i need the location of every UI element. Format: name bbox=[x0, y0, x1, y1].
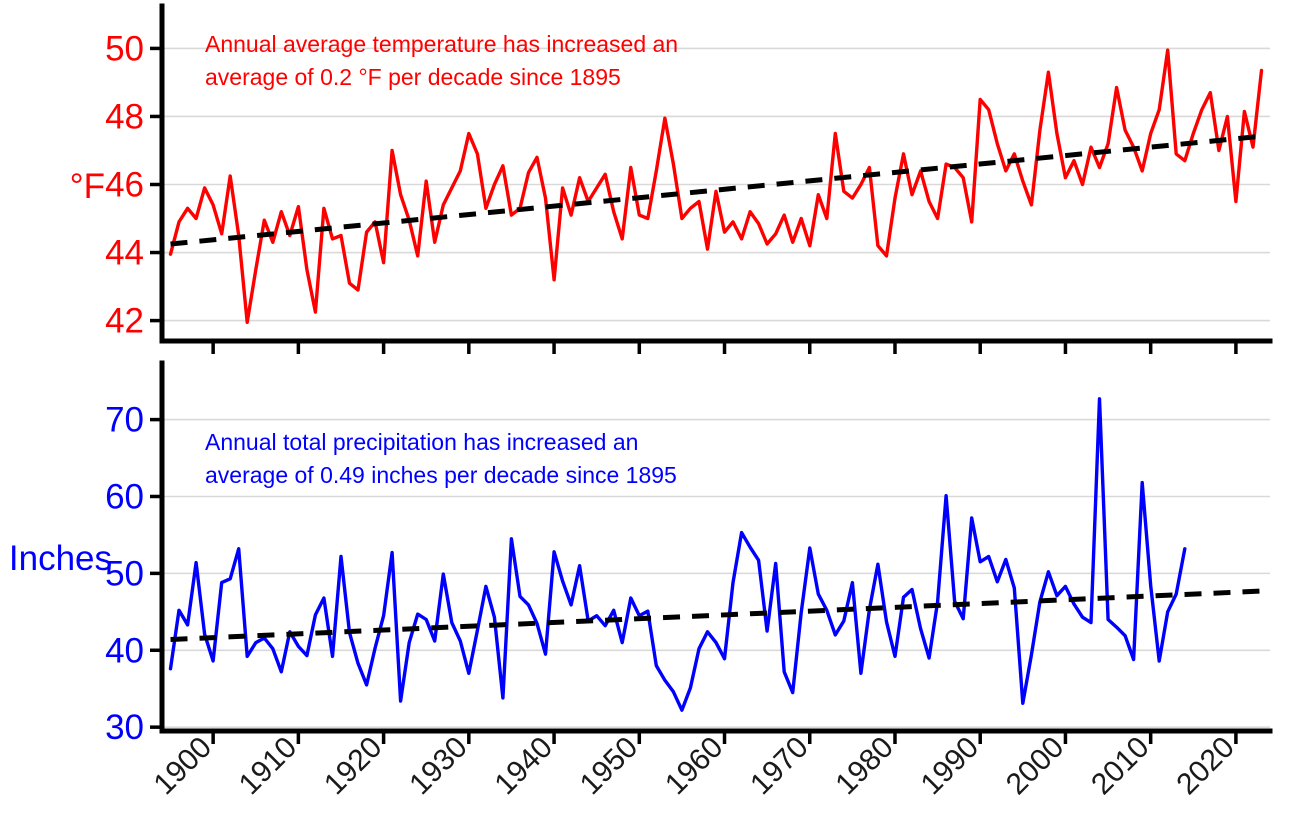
ytick-label-50: 50 bbox=[105, 29, 144, 68]
temperature-panel-annotation-line1: Annual average temperature has increased… bbox=[205, 31, 678, 57]
xtick-label-1900: 1900 bbox=[148, 731, 219, 802]
ytick-label-40: 40 bbox=[105, 631, 144, 670]
climate-trends-chart: 4244464850Annual average temperature has… bbox=[0, 0, 1300, 827]
ytick-label-46: 46 bbox=[105, 166, 144, 205]
temperature-panel-axis-title: °F bbox=[70, 167, 105, 206]
xtick-label-1940: 1940 bbox=[488, 731, 559, 802]
precipitation-panel-annotation-line2: average of 0.49 inches per decade since … bbox=[205, 462, 677, 488]
xtick-label-2000: 2000 bbox=[1000, 731, 1071, 802]
x-axis-tick-labels: 1900191019201930194019501960197019801990… bbox=[148, 731, 1241, 802]
xtick-label-1930: 1930 bbox=[403, 731, 474, 802]
xtick-label-1960: 1960 bbox=[659, 731, 730, 802]
ytick-label-30: 30 bbox=[105, 708, 144, 747]
temperature-panel-annotation-line2: average of 0.2 °F per decade since 1895 bbox=[205, 64, 621, 90]
chart-container: 4244464850Annual average temperature has… bbox=[0, 0, 1300, 827]
precipitation-panel-axis-title: Inches bbox=[9, 539, 112, 578]
ytick-label-70: 70 bbox=[105, 401, 144, 440]
ytick-label-42: 42 bbox=[105, 302, 144, 341]
temperature-panel-series bbox=[171, 50, 1262, 322]
temperature-panel: 4244464850Annual average temperature has… bbox=[70, 6, 1270, 354]
xtick-label-1920: 1920 bbox=[318, 731, 389, 802]
precipitation-panel: 3040506070Annual total precipitation has… bbox=[9, 363, 1270, 747]
xtick-label-1910: 1910 bbox=[233, 731, 304, 802]
ytick-label-44: 44 bbox=[105, 234, 144, 273]
xtick-label-1990: 1990 bbox=[915, 731, 986, 802]
xtick-label-2010: 2010 bbox=[1085, 731, 1156, 802]
ytick-label-60: 60 bbox=[105, 477, 144, 516]
xtick-label-2020: 2020 bbox=[1170, 731, 1241, 802]
precipitation-panel-annotation-line1: Annual total precipitation has increased… bbox=[205, 429, 638, 455]
xtick-label-1950: 1950 bbox=[574, 731, 645, 802]
ytick-label-48: 48 bbox=[105, 97, 144, 136]
xtick-label-1970: 1970 bbox=[744, 731, 815, 802]
xtick-label-1980: 1980 bbox=[829, 731, 900, 802]
